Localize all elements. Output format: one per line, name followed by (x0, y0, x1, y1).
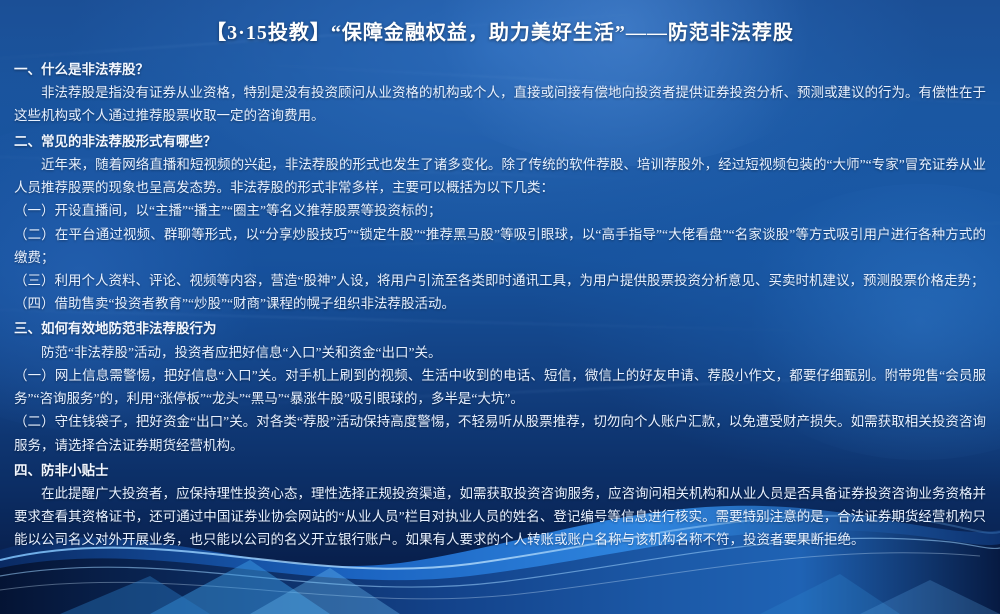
poster-content: 【3·15投教】“保障金融权益，助力美好生活”——防范非法荐股 一、什么是非法荐… (0, 0, 1000, 552)
content-section: 二、常见的非法荐股形式有哪些？近年来，随着网络直播和短视频的兴起，非法荐股的形式… (14, 130, 986, 316)
page-title: 【3·15投教】“保障金融权益，助力美好生活”——防范非法荐股 (14, 20, 986, 46)
content-section: 一、什么是非法荐股？非法荐股是指没有证券从业资格，特别是没有投资顾问从业资格的机… (14, 58, 986, 128)
section-list-item: （一）网上信息需警惕，把好信息“入口”关。对手机上刷到的视频、生活中收到的电话、… (14, 364, 986, 410)
section-heading: 四、防非小贴士 (14, 459, 986, 482)
section-paragraph: 非法荐股是指没有证券从业资格，特别是没有投资顾问从业资格的机构或个人，直接或间接… (14, 81, 986, 127)
poster-canvas: 【3·15投教】“保障金融权益，助力美好生活”——防范非法荐股 一、什么是非法荐… (0, 0, 1000, 614)
section-paragraph: 在此提醒广大投资者，应保持理性投资心态，理性选择正规投资渠道，如需获取投资咨询服… (14, 482, 986, 552)
section-list-item: （二）守住钱袋子，把好资金“出口”关。对各类“荐股”活动保持高度警惕，不轻易听从… (14, 410, 986, 456)
section-list-item: （二）在平台通过视频、群聊等形式，以“分享炒股技巧”“锁定牛股”“推荐黑马股”等… (14, 223, 986, 269)
section-list-item: （一）开设直播间，以“主播”“播主”“圈主”等名义推荐股票等投资标的； (14, 199, 986, 222)
section-paragraph: 防范“非法荐股”活动，投资者应把好信息“入口”关和资金“出口”关。 (14, 341, 986, 364)
section-heading: 三、如何有效地防范非法荐股行为 (14, 317, 986, 340)
section-list-item: （三）利用个人资料、评论、视频等内容，营造“股神”人设，将用户引流至各类即时通讯… (14, 269, 986, 292)
section-list: 一、什么是非法荐股？非法荐股是指没有证券从业资格，特别是没有投资顾问从业资格的机… (14, 58, 986, 552)
section-list-item: （四）借助售卖“投资者教育”“炒股”“财商”课程的幌子组织非法荐股活动。 (14, 292, 986, 315)
section-heading: 一、什么是非法荐股？ (14, 58, 986, 81)
section-heading: 二、常见的非法荐股形式有哪些？ (14, 130, 986, 153)
content-section: 三、如何有效地防范非法荐股行为防范“非法荐股”活动，投资者应把好信息“入口”关和… (14, 317, 986, 456)
section-paragraph: 近年来，随着网络直播和短视频的兴起，非法荐股的形式也发生了诸多变化。除了传统的软… (14, 153, 986, 199)
content-section: 四、防非小贴士在此提醒广大投资者，应保持理性投资心态，理性选择正规投资渠道，如需… (14, 459, 986, 552)
